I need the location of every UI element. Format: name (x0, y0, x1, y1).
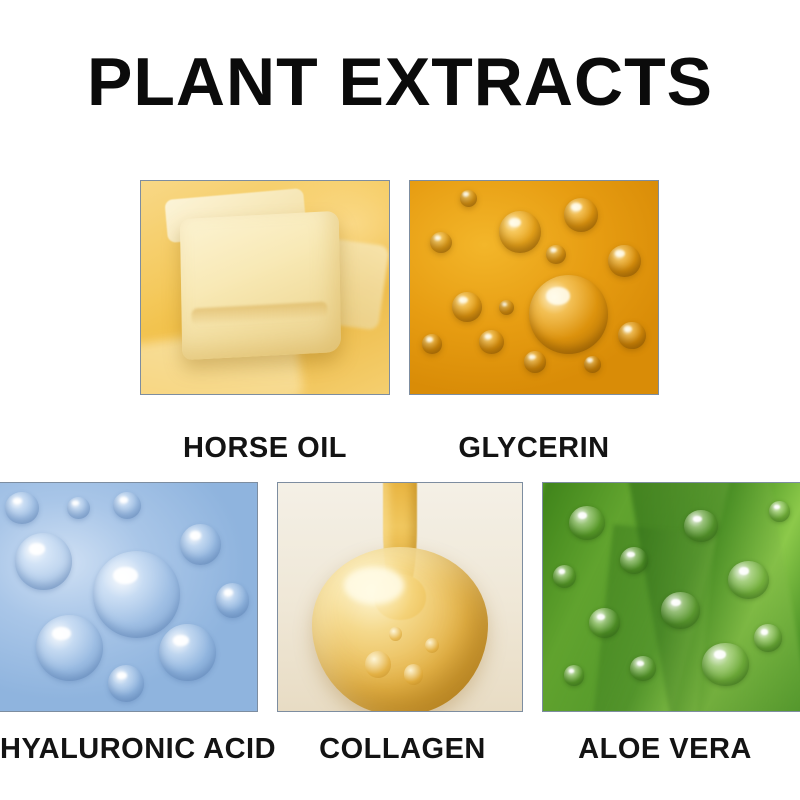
glycerin-bubble (546, 245, 566, 264)
blue-bubble (36, 615, 103, 681)
blue-bubble (67, 497, 90, 520)
blue-bubble (180, 524, 221, 565)
water-droplet (661, 592, 700, 628)
glycerin-bubble (430, 232, 452, 253)
glycerin-bubble (584, 356, 601, 373)
collagen-inner-bubble (389, 627, 401, 640)
water-droplet (728, 561, 769, 600)
water-droplet (589, 608, 620, 638)
ingredient-label-collagen: COLLAGEN (295, 733, 510, 765)
glycerin-bubble (499, 211, 541, 254)
butter-block-main (180, 211, 341, 360)
glycerin-bubble (460, 190, 477, 207)
page-title: PLANT EXTRACTS (0, 46, 800, 118)
collagen-artwork (278, 483, 522, 711)
blue-bubble (113, 492, 141, 519)
hyaluronic-acid-artwork (0, 483, 257, 711)
glycerin-bubble (499, 300, 514, 315)
blue-bubble (159, 624, 216, 681)
blue-bubble (5, 492, 38, 524)
glycerin-bubble-large (529, 275, 608, 354)
glycerin-bubble (618, 322, 645, 350)
blue-bubble (108, 665, 144, 701)
collagen-inner-bubble (425, 638, 439, 653)
blue-bubble (15, 533, 72, 590)
glycerin-bubble (524, 351, 546, 372)
ingredient-label-horse-oil: HORSE OIL (140, 432, 390, 464)
glycerin-bubble (564, 198, 599, 232)
glycerin-bubble (608, 245, 640, 277)
ingredient-image-hyaluronic-acid (0, 482, 258, 712)
ingredient-image-aloe-vera (542, 482, 800, 712)
collagen-inner-bubble (404, 664, 423, 684)
water-droplet (769, 501, 790, 522)
water-droplet (564, 665, 585, 686)
blue-bubble (216, 583, 249, 617)
ingredient-label-aloe-vera: ALOE VERA (530, 733, 800, 765)
collagen-inner-bubble (365, 651, 391, 678)
ingredient-image-horse-oil (140, 180, 390, 395)
water-droplet (684, 510, 717, 542)
ingredient-label-hyaluronic-acid: HYALURONIC ACID (0, 733, 276, 765)
aloe-vera-artwork (543, 483, 800, 711)
horse-oil-artwork (141, 181, 389, 394)
glycerin-bubble (452, 292, 482, 322)
water-droplet (754, 624, 782, 651)
glycerin-bubble (422, 334, 442, 353)
water-droplet (569, 506, 605, 540)
ingredient-label-glycerin: GLYCERIN (409, 432, 659, 464)
droplet-highlight (344, 567, 404, 604)
collagen-droplet-large (312, 547, 488, 712)
ingredient-image-glycerin (409, 180, 659, 395)
glycerin-artwork (410, 181, 658, 394)
plant-extracts-poster: PLANT EXTRACTS HORSE OIL GLYCERIN (0, 0, 800, 800)
blue-bubble-large (93, 551, 180, 638)
ingredient-image-collagen (277, 482, 523, 712)
water-droplet (702, 643, 748, 686)
glycerin-bubble (479, 330, 504, 353)
